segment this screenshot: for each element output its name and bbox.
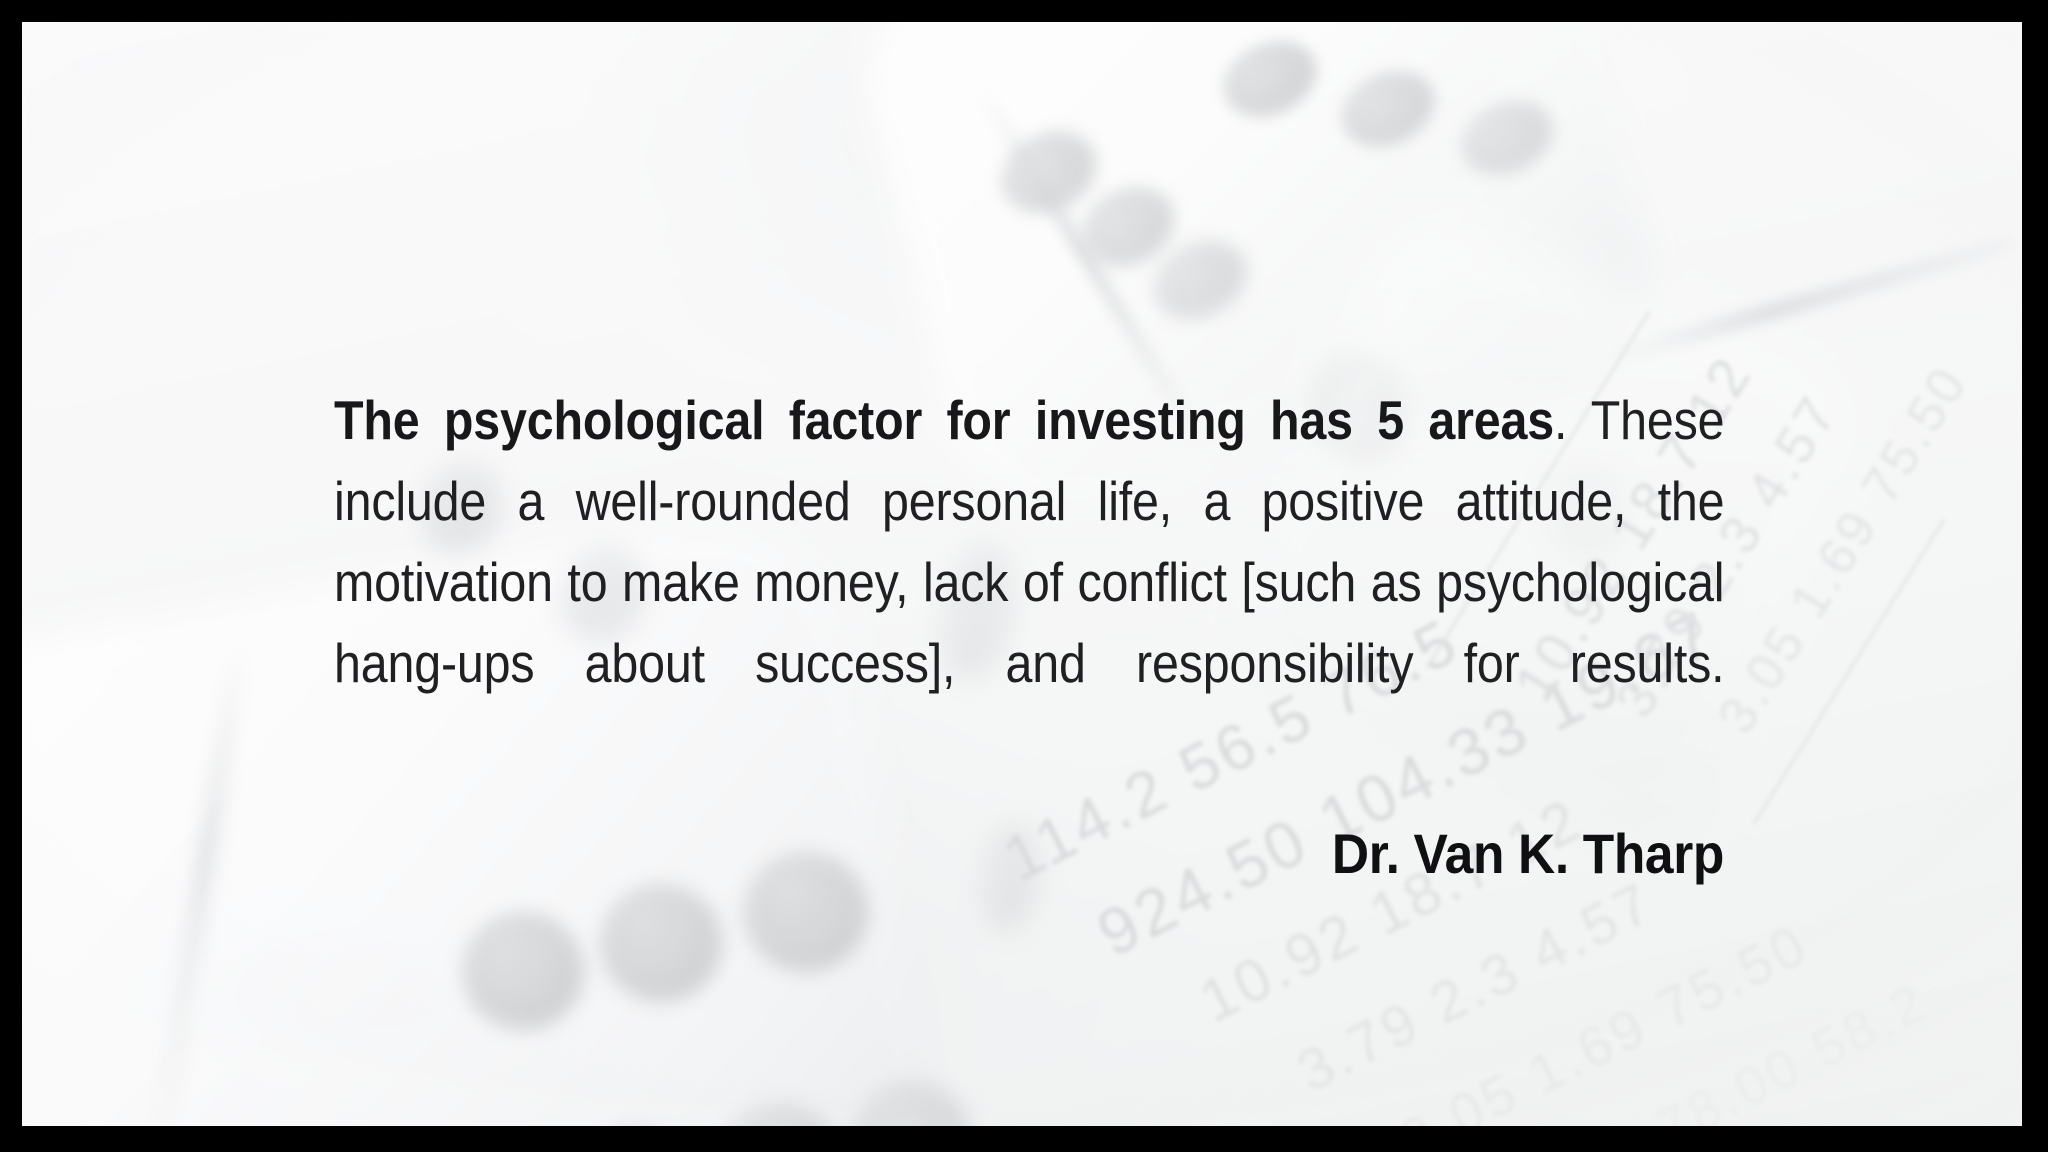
die-pip bbox=[1141, 227, 1259, 334]
die-pip bbox=[988, 116, 1109, 227]
quote-block: The psychological factor for investing h… bbox=[334, 380, 1724, 886]
die-pip bbox=[722, 1104, 840, 1126]
die-pip bbox=[1069, 173, 1188, 282]
quote-lead-in: The psychological factor for investing h… bbox=[334, 389, 1554, 451]
die-pip bbox=[600, 884, 722, 1002]
paper-fold-shadow bbox=[1608, 234, 2016, 365]
numbers-row: 41.80 78.00 58.2 bbox=[1492, 971, 1938, 1126]
numbers-row: 3.05 1.69 75.50 bbox=[1706, 355, 1980, 744]
paper-rule-line bbox=[1752, 518, 1945, 825]
quote-attribution: Dr. Van K. Tharp bbox=[445, 821, 1724, 886]
quote-paragraph: The psychological factor for investing h… bbox=[334, 380, 1724, 785]
slide-frame: 114.2 56.5 76.5 924.50 104.33 19.67 10.9… bbox=[0, 0, 2048, 1152]
die-pip bbox=[462, 912, 584, 1030]
die-bottom-left-edge bbox=[151, 644, 246, 1126]
slide-canvas: 114.2 56.5 76.5 924.50 104.33 19.67 10.9… bbox=[22, 22, 2022, 1126]
die-pip bbox=[1330, 58, 1446, 161]
die-pip bbox=[1450, 88, 1564, 188]
die-pip bbox=[854, 1082, 970, 1126]
numbers-row: 3.79 2.3 4.57 bbox=[1287, 868, 1665, 1105]
die-pip bbox=[1212, 28, 1328, 131]
numbers-row: 3.05 1.69 75.50 bbox=[1389, 911, 1819, 1126]
